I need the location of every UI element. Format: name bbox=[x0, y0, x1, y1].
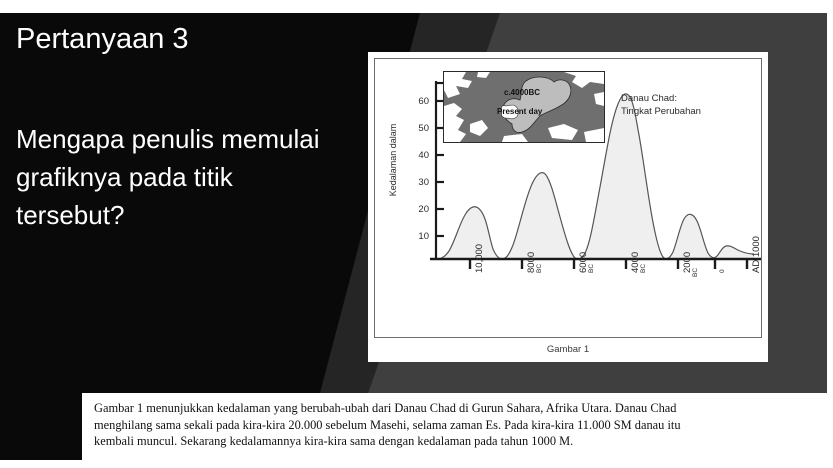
caption-line-2: menghilang sama sekali pada kira-kira 20… bbox=[94, 417, 817, 434]
x-axis-ticks bbox=[470, 259, 747, 269]
slide-top-margin bbox=[0, 0, 833, 13]
x-tick-2000-era: BC bbox=[692, 268, 699, 277]
figure-caption: Gambar 1 bbox=[368, 344, 768, 355]
figure-card: Kedalaman dalam 60 50 40 30 20 10 bbox=[368, 52, 768, 362]
slide-root: Pertanyaan 3 Mengapa penulis memulai gra… bbox=[0, 0, 833, 468]
x-tick-4000-era: BC bbox=[640, 264, 647, 273]
question-text: Mengapa penulis memulai grafiknya pada t… bbox=[16, 120, 346, 234]
chart-note-line1: Danau Chad: bbox=[621, 92, 701, 105]
x-tick-10000: 10,000 bbox=[474, 244, 485, 273]
caption-line-3: kembali muncul. Sekarang kedalamannya ki… bbox=[94, 433, 817, 450]
chart-note-line2: Tingkat Perubahan bbox=[621, 105, 701, 118]
inset-map: c.4000BC Present day bbox=[443, 71, 605, 143]
page-title: Pertanyaan 3 bbox=[16, 22, 189, 56]
caption-line-1: Gambar 1 menunjukkan kedalaman yang beru… bbox=[94, 400, 817, 417]
bottom-caption-box: Gambar 1 menunjukkan kedalaman yang beru… bbox=[82, 393, 827, 461]
slide-bottom-margin bbox=[0, 460, 833, 468]
x-tick-zero: 0 bbox=[719, 269, 726, 273]
chart-note: Danau Chad: Tingkat Perubahan bbox=[621, 92, 701, 118]
map-label-present: Present day bbox=[497, 107, 542, 116]
map-label-ancient: c.4000BC bbox=[504, 88, 540, 97]
x-tick-8000-era: BC bbox=[536, 264, 543, 273]
slide-right-margin bbox=[827, 13, 833, 460]
chart-area: Kedalaman dalam 60 50 40 30 20 10 bbox=[375, 59, 761, 337]
x-tick-6000-era: BC bbox=[588, 264, 595, 273]
figure-frame: Kedalaman dalam 60 50 40 30 20 10 bbox=[374, 58, 762, 338]
x-tick-ad1000: AD 1000 bbox=[751, 236, 762, 273]
